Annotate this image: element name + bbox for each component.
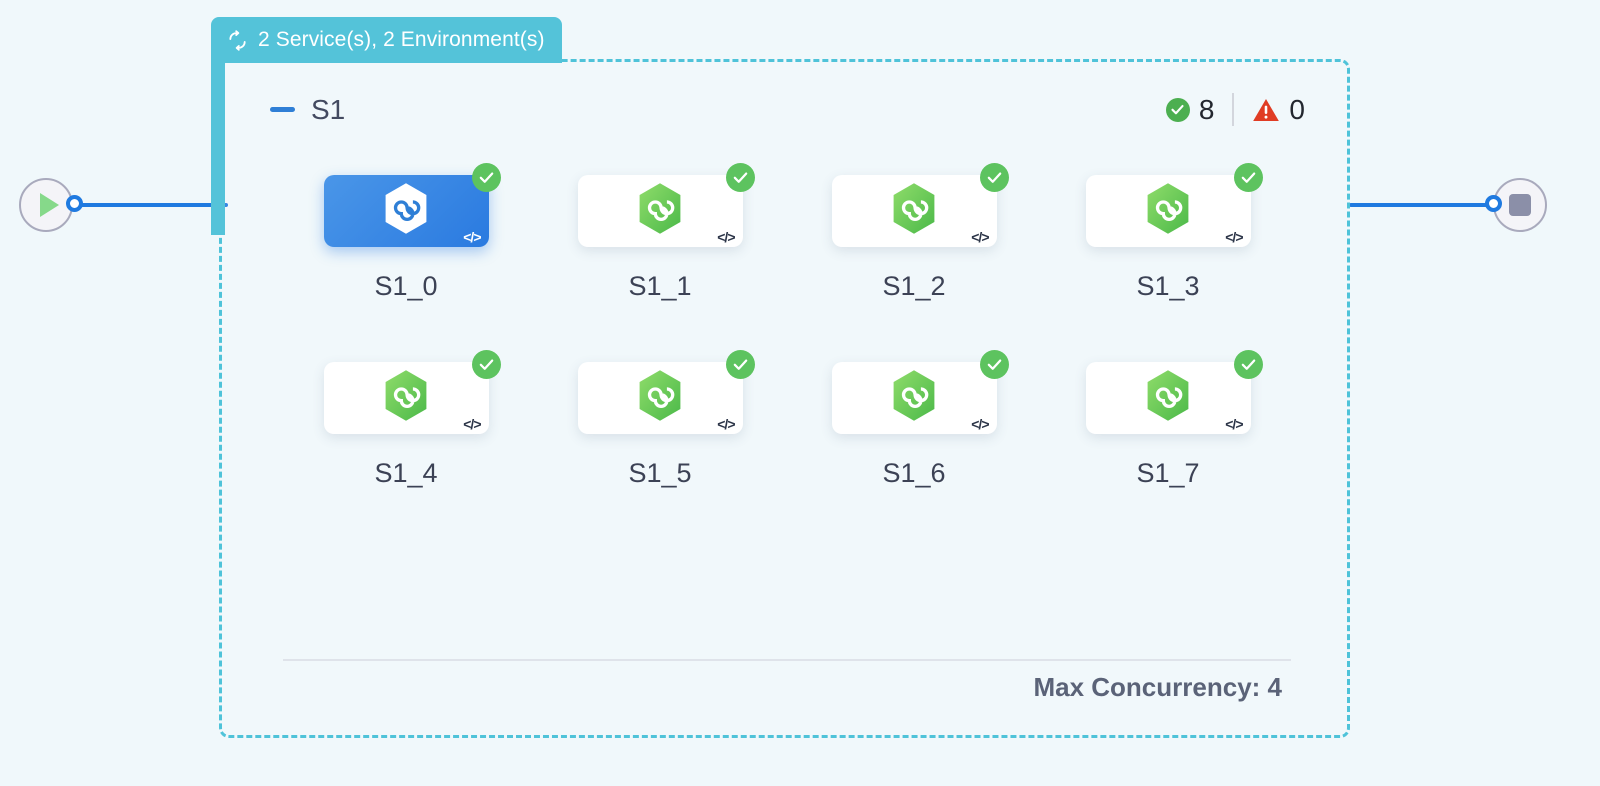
code-icon: </> [463, 416, 480, 432]
max-concurrency-label: Max Concurrency: 4 [1033, 672, 1282, 703]
edge-start-to-group[interactable] [76, 203, 228, 207]
service-node-card-s1_3[interactable]: </> [1086, 175, 1251, 247]
code-icon: </> [971, 229, 988, 245]
node-label-s1_7: S1_7 [1136, 458, 1199, 489]
check-circle-icon [726, 163, 755, 192]
service-node-card-s1_1[interactable]: </> [578, 175, 743, 247]
check-circle-icon [980, 350, 1009, 379]
cycle-icon [226, 29, 249, 52]
group-badge-label: 2 Service(s), 2 Environment(s) [258, 28, 545, 52]
status-badge-error: 0 [1252, 94, 1305, 126]
check-circle-icon [1166, 98, 1190, 122]
service-node-card-s1_0[interactable]: </> [324, 175, 489, 247]
code-icon: </> [1225, 229, 1242, 245]
code-icon: </> [1225, 416, 1242, 432]
service-node-card-s1_5[interactable]: </> [578, 362, 743, 434]
success-count: 8 [1199, 94, 1215, 126]
group-badge[interactable]: 2 Service(s), 2 Environment(s) [211, 17, 562, 63]
group-title: S1 [311, 94, 345, 126]
play-icon [40, 193, 59, 217]
check-circle-icon [980, 163, 1009, 192]
infinity-hexagon-icon [889, 368, 939, 428]
stop-icon [1509, 194, 1531, 216]
group-connector-rail [211, 59, 225, 235]
code-icon: </> [717, 229, 734, 245]
group-container[interactable]: S1 8 [219, 59, 1350, 738]
minus-icon[interactable] [270, 107, 295, 112]
error-count: 0 [1289, 94, 1305, 126]
node-cell: </> S1_7 [1041, 362, 1295, 489]
node-grid: </> S1_0 </> S1_1 [279, 175, 1295, 489]
check-circle-icon [1234, 163, 1263, 192]
infinity-hexagon-icon [1143, 368, 1193, 428]
infinity-hexagon-icon [381, 368, 431, 428]
code-icon: </> [463, 229, 480, 245]
footer-divider [283, 659, 1291, 661]
check-circle-icon [472, 350, 501, 379]
workflow-canvas: 2 Service(s), 2 Environment(s) S1 8 [0, 0, 1600, 786]
infinity-hexagon-icon [889, 181, 939, 241]
end-node-input-port[interactable] [1485, 195, 1502, 212]
node-cell: </> S1_1 [533, 175, 787, 302]
group-header: S1 8 [270, 93, 1305, 126]
start-node-output-port[interactable] [66, 195, 83, 212]
warning-triangle-icon [1252, 97, 1280, 123]
node-cell: </> S1_3 [1041, 175, 1295, 302]
infinity-hexagon-icon [1143, 181, 1193, 241]
node-row-spacer [279, 302, 1295, 362]
node-label-s1_2: S1_2 [882, 271, 945, 302]
service-node-card-s1_7[interactable]: </> [1086, 362, 1251, 434]
service-node-card-s1_6[interactable]: </> [832, 362, 997, 434]
service-node-card-s1_2[interactable]: </> [832, 175, 997, 247]
check-circle-icon [472, 163, 501, 192]
edge-group-to-end[interactable] [1349, 203, 1501, 207]
node-cell: </> S1_4 [279, 362, 533, 489]
infinity-hexagon-icon [381, 181, 431, 241]
node-cell: </> S1_5 [533, 362, 787, 489]
node-label-s1_5: S1_5 [628, 458, 691, 489]
node-cell: </> S1_0 [279, 175, 533, 302]
node-label-s1_1: S1_1 [628, 271, 691, 302]
code-icon: </> [971, 416, 988, 432]
node-cell: </> S1_6 [787, 362, 1041, 489]
node-label-s1_4: S1_4 [374, 458, 437, 489]
infinity-hexagon-icon [635, 181, 685, 241]
check-circle-icon [1234, 350, 1263, 379]
node-label-s1_0: S1_0 [374, 271, 437, 302]
service-node-card-s1_4[interactable]: </> [324, 362, 489, 434]
node-cell: </> S1_2 [787, 175, 1041, 302]
node-label-s1_6: S1_6 [882, 458, 945, 489]
infinity-hexagon-icon [635, 368, 685, 428]
status-divider [1232, 93, 1234, 126]
status-badge-success: 8 [1166, 94, 1215, 126]
code-icon: </> [717, 416, 734, 432]
node-label-s1_3: S1_3 [1136, 271, 1199, 302]
check-circle-icon [726, 350, 755, 379]
start-node[interactable] [19, 178, 73, 232]
